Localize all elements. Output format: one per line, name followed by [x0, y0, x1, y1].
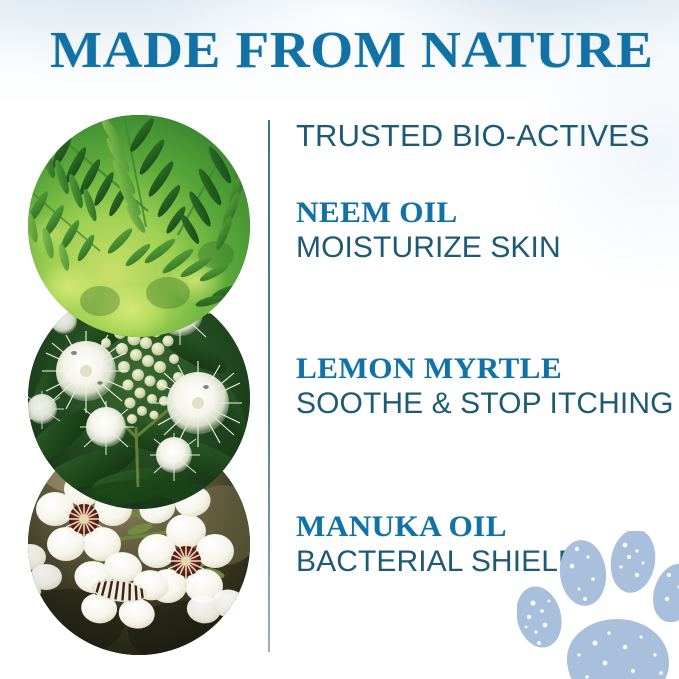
eyebrow-label: TRUSTED BIO-ACTIVES: [296, 118, 650, 154]
ingredient-neem: NEEM OIL MOISTURIZE SKIN: [296, 196, 679, 265]
poster-canvas: MADE FROM NATURE: [0, 0, 679, 679]
ingredient-lemon-myrtle-title: LEMON MYRTLE: [296, 352, 679, 386]
ingredient-lemon-myrtle-benefit: SOOTHE & STOP ITCHING: [296, 387, 679, 421]
ingredient-neem-title: NEEM OIL: [296, 196, 679, 230]
ingredient-lemon-myrtle: LEMON MYRTLE SOOTHE & STOP ITCHING: [296, 352, 679, 421]
ingredient-neem-benefit: MOISTURIZE SKIN: [296, 231, 679, 265]
vertical-divider: [268, 120, 270, 652]
neem-leaves-photo: [28, 115, 250, 337]
ingredient-photo-stack: [0, 0, 270, 679]
paw-print-icon: [517, 531, 679, 679]
